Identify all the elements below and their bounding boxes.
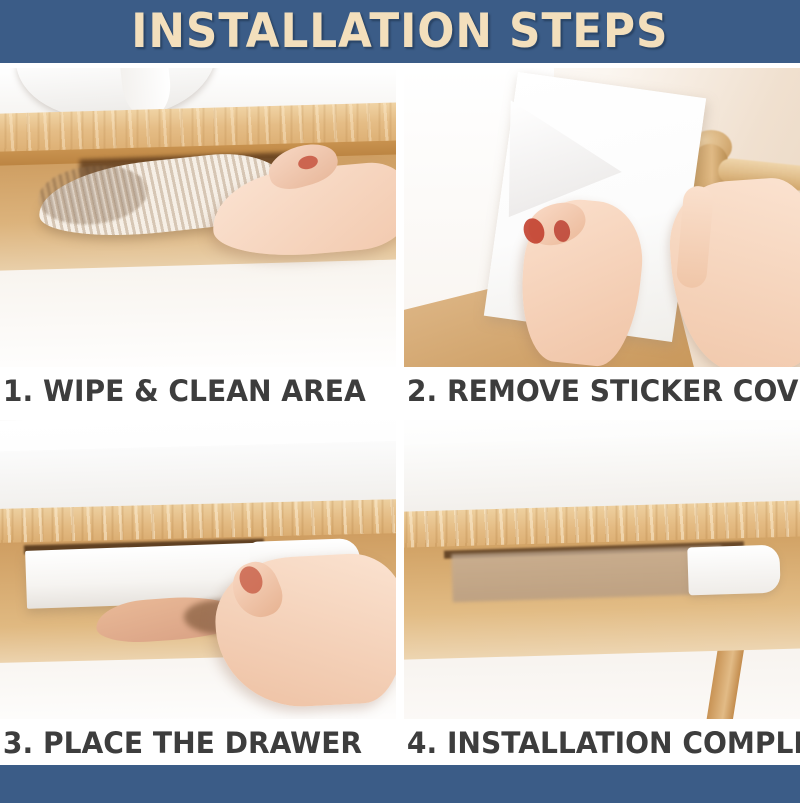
installed-drawer-front (687, 545, 780, 596)
step-3-caption: 3. PLACE THE DRAWER (0, 726, 362, 760)
step-1-caption: 1. WIPE & CLEAN AREA (0, 374, 366, 408)
step-card-3: 3. PLACE THE DRAWER (0, 420, 396, 767)
page-title: INSTALLATION STEPS (131, 4, 668, 59)
footer-bar (0, 765, 800, 803)
step-2-caption: 2. REMOVE STICKER COVER (404, 374, 800, 408)
steps-grid: 1. WIPE & CLEAN AREA (0, 68, 800, 765)
step-1-caption-band: 1. WIPE & CLEAN AREA (0, 367, 404, 415)
header-bar: INSTALLATION STEPS (0, 0, 800, 63)
step-card-1: 1. WIPE & CLEAN AREA (0, 68, 396, 415)
step-4-caption-band: 4. INSTALLATION COMPLETE (396, 719, 800, 767)
step-2-photo (404, 68, 800, 367)
step-card-2: 2. REMOVE STICKER COVER (404, 68, 800, 415)
step-card-4: 4. INSTALLATION COMPLETE (404, 420, 800, 767)
installed-drawer-body (451, 546, 722, 602)
step-3-caption-band: 3. PLACE THE DRAWER (0, 719, 404, 767)
installation-steps-infographic: INSTALLATION STEPS (0, 0, 800, 803)
step-2-caption-band: 2. REMOVE STICKER COVER (396, 367, 800, 415)
step-4-photo (404, 420, 800, 719)
step-4-caption: 4. INSTALLATION COMPLETE (404, 726, 800, 760)
step-1-photo (0, 68, 396, 367)
step-3-photo (0, 420, 396, 719)
